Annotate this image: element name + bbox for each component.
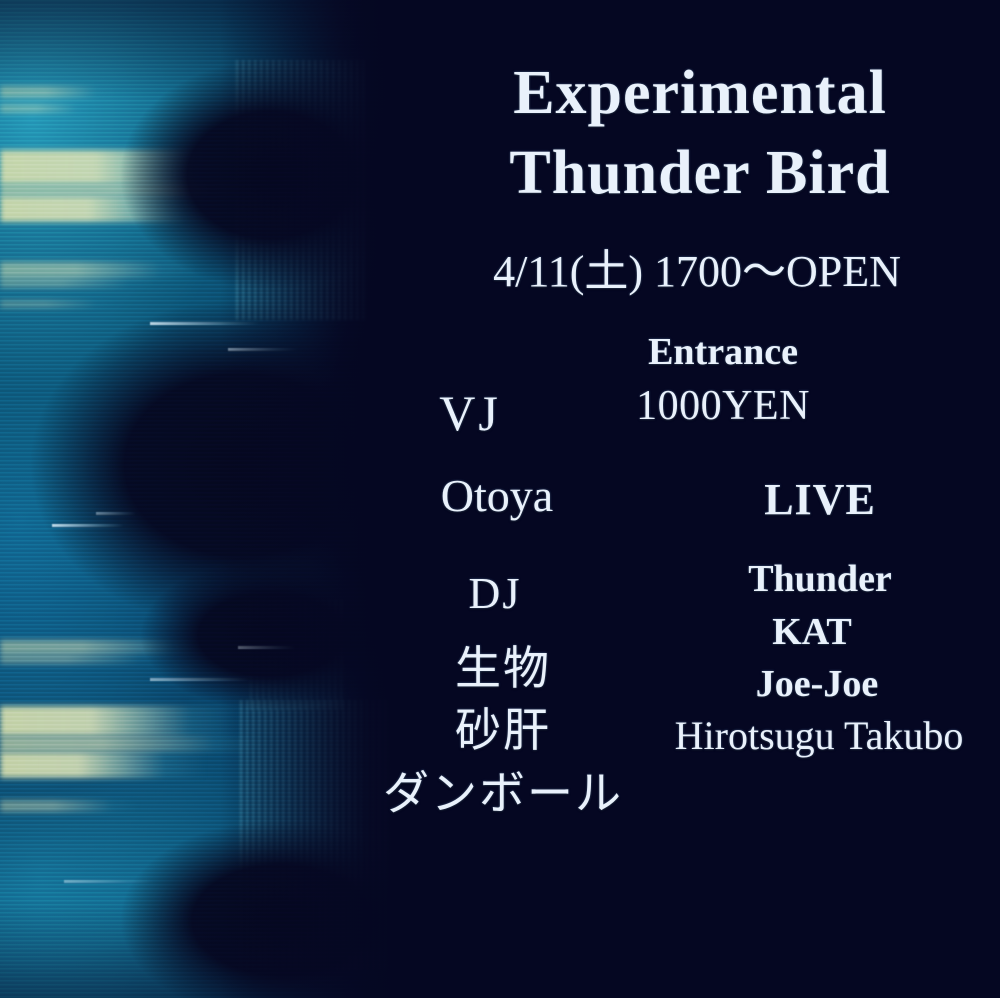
live-artist-kat: KAT	[772, 613, 852, 651]
vj-artist-otoya: Otoya	[441, 473, 553, 519]
live-label: LIVE	[764, 478, 876, 522]
vj-label: VJ	[439, 388, 501, 438]
dj-artist-sunagimo: 砂肝	[455, 707, 551, 753]
flyer-poster: Experimental Thunder Bird 4/11(土) 1700〜O…	[0, 0, 1000, 998]
entrance-label: Entrance	[648, 333, 798, 371]
glitch-artwork	[0, 0, 400, 998]
title-line-2: Thunder Bird	[509, 142, 890, 204]
live-artist-thunder: Thunder	[748, 560, 892, 598]
date-open-line: 4/11(土) 1700〜OPEN	[493, 250, 901, 294]
live-artist-joejoe: Joe-Joe	[756, 665, 878, 703]
artwork-vignette	[0, 0, 400, 998]
dj-artist-danboru: ダンボール	[383, 770, 623, 816]
title-line-1: Experimental	[513, 62, 887, 124]
live-artist-hirotsugu-takubo: Hirotsugu Takubo	[675, 716, 964, 756]
dj-label: DJ	[469, 572, 522, 616]
dj-artist-seibutsu: 生物	[455, 645, 551, 691]
entrance-fee: 1000YEN	[636, 385, 810, 427]
